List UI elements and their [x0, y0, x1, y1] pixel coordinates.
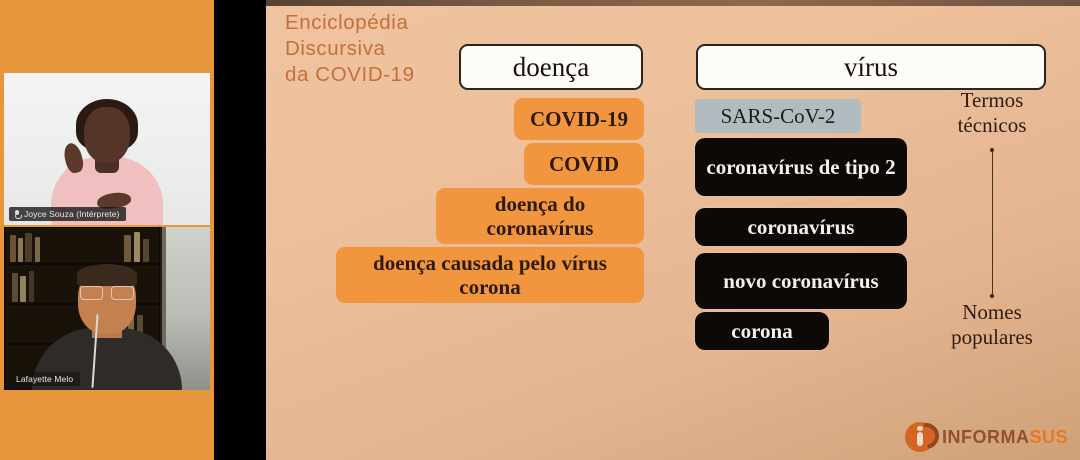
informasus-logo-icon — [905, 422, 935, 452]
logo-arc-decor — [908, 418, 944, 454]
video-tile-interpreter[interactable]: Joyce Souza (Intérprete) — [4, 73, 210, 225]
heading-box-virus: vírus — [696, 44, 1046, 90]
microphone-icon — [14, 210, 20, 219]
term-chip-coronavirus: coronavírus — [695, 208, 907, 246]
book-decor — [20, 276, 26, 302]
participant-name-badge-interpreter: Joyce Souza (Intérprete) — [9, 207, 126, 221]
book-decor — [134, 232, 140, 262]
book-decor — [18, 238, 23, 262]
book-decor — [143, 239, 149, 262]
logo-word-informa: INFORMA — [942, 427, 1030, 447]
book-decor — [25, 233, 32, 262]
shared-slide: Enciclopédia Discursiva da COVID-19 doen… — [266, 0, 1080, 460]
book-decor — [124, 235, 131, 262]
term-chip-covid-19: COVID-19 — [514, 98, 644, 140]
informasus-logo: INFORMASUS — [905, 422, 1068, 452]
logo-wordmark: INFORMASUS — [942, 427, 1068, 448]
video-participants-panel: Joyce Souza (Intérprete) — [0, 0, 214, 460]
heading-label-doenca: doença — [513, 54, 589, 81]
axis-label-nomes-populares: Nomes populares — [926, 300, 1058, 350]
term-chip-corona: corona — [695, 312, 829, 350]
speaker-hair — [77, 264, 137, 286]
interpreter-head — [84, 107, 130, 163]
book-decor — [12, 273, 18, 302]
axis-label-termos-tecnicos: Termos técnicos — [926, 88, 1058, 138]
term-chip-covid: COVID — [524, 143, 644, 185]
term-chip-doenca-causada-pelo-virus-corona: doença causada pelo vírus corona — [336, 247, 644, 303]
term-chip-coronavirus-de-tipo-2: coronavírus de tipo 2 — [695, 138, 907, 196]
eyeglasses-icon — [80, 286, 134, 298]
axis-arrowhead-bottom — [990, 294, 994, 298]
axis-line — [992, 152, 993, 294]
participant-name-interpreter: Joyce Souza (Intérprete) — [24, 209, 119, 219]
participant-name-badge-speaker: Lafayette Melo — [9, 372, 80, 386]
term-chip-sars-cov-2: SARS-CoV-2 — [695, 99, 861, 133]
heading-box-doenca: doença — [459, 44, 643, 90]
axis-arrow-icon — [991, 148, 993, 298]
heading-label-virus: vírus — [844, 54, 898, 81]
slide-top-strip — [266, 0, 1080, 6]
book-decor — [35, 237, 40, 262]
term-chip-doenca-do-coronavirus: doença do coronavírus — [436, 188, 644, 244]
video-tile-speaker[interactable]: Lafayette Melo — [4, 227, 210, 390]
slide-title: Enciclopédia Discursiva da COVID-19 — [285, 10, 415, 88]
logo-word-sus: SUS — [1029, 427, 1068, 447]
shelf-divider-1 — [4, 263, 160, 265]
screen-capture: Joyce Souza (Intérprete) — [0, 0, 1080, 460]
participant-name-speaker: Lafayette Melo — [16, 374, 73, 384]
book-decor — [10, 235, 16, 262]
term-chip-novo-coronavirus: novo coronavírus — [695, 253, 907, 309]
